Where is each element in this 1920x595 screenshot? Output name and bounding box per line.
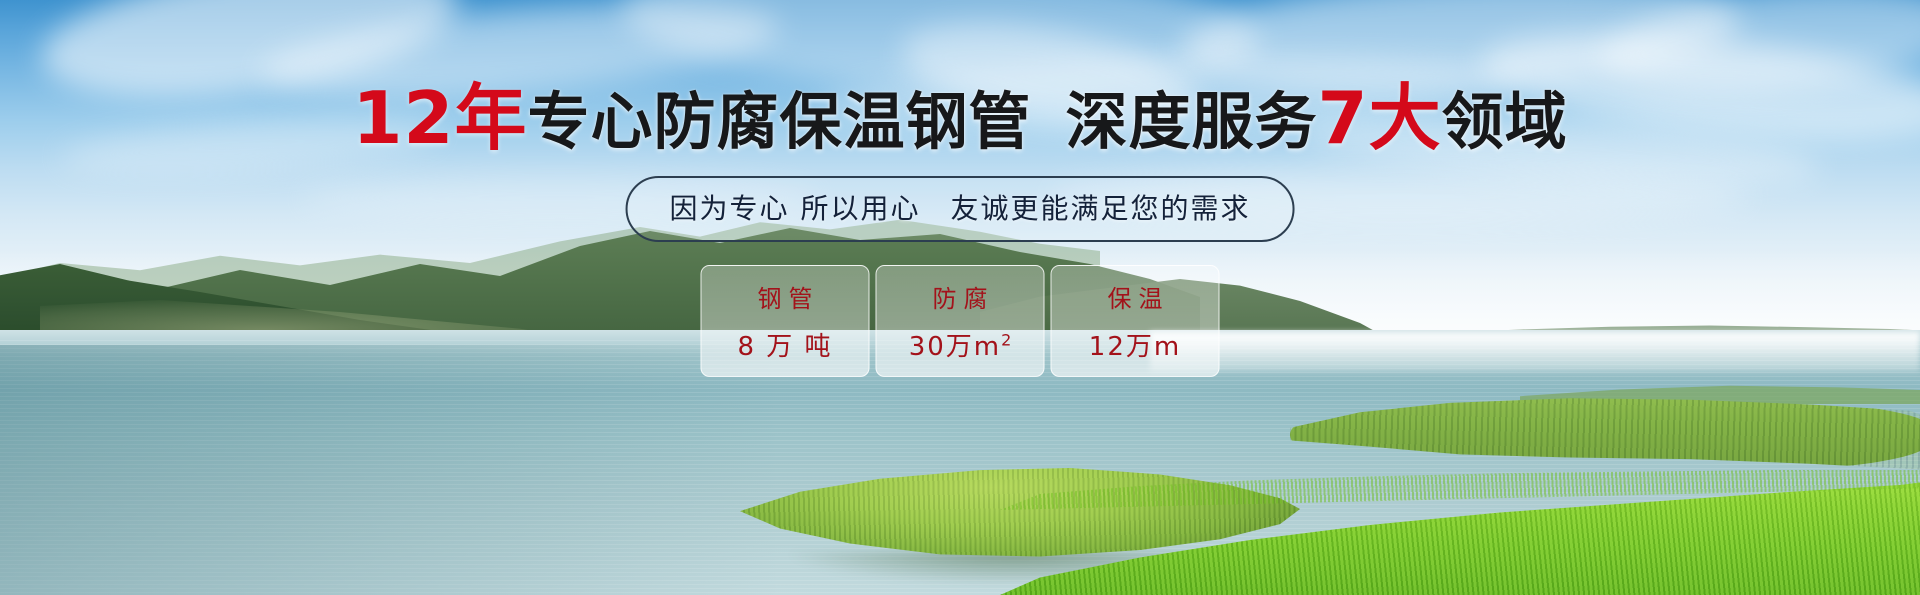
- stat-value: 8 万 吨: [737, 326, 832, 363]
- headline-fields: 领域: [1442, 85, 1568, 158]
- stat-value-main: 8 万 吨: [737, 332, 832, 362]
- stat-value-main: 12万m: [1089, 332, 1181, 362]
- stat-label: 保温: [1101, 279, 1170, 314]
- headline: 12年专心防腐保温钢管深度服务7大领域: [0, 82, 1920, 154]
- stat-value-main: 30万m: [909, 332, 1001, 362]
- headline-service: 深度服务: [1066, 85, 1318, 158]
- promo-banner: 12年专心防腐保温钢管深度服务7大领域 因为专心 所以用心 友诚更能满足您的需求…: [0, 0, 1920, 595]
- headline-seven: 7大: [1318, 76, 1442, 160]
- stat-card-steel-pipe[interactable]: 钢管 8 万 吨: [701, 265, 870, 377]
- subtitle-pill: 因为专心 所以用心 友诚更能满足您的需求: [626, 176, 1295, 242]
- subtitle-text: 因为专心 所以用心 友诚更能满足您的需求: [670, 187, 1251, 227]
- stat-label: 钢管: [751, 279, 820, 314]
- stat-value-superscript: 2: [1001, 330, 1011, 349]
- stat-value: 12万m: [1089, 326, 1181, 363]
- stat-label: 防腐: [926, 279, 995, 314]
- headline-years: 12年: [352, 76, 527, 160]
- stat-card-anticorrosion[interactable]: 防腐 30万m2: [876, 265, 1045, 377]
- banner-content: 12年专心防腐保温钢管深度服务7大领域 因为专心 所以用心 友诚更能满足您的需求…: [0, 0, 1920, 595]
- stat-card-insulation[interactable]: 保温 12万m: [1051, 265, 1220, 377]
- stat-value: 30万m2: [909, 326, 1012, 363]
- headline-main: 专心防腐保温钢管: [528, 85, 1032, 158]
- stat-card-list: 钢管 8 万 吨 防腐 30万m2 保温 12万m: [701, 265, 1220, 377]
